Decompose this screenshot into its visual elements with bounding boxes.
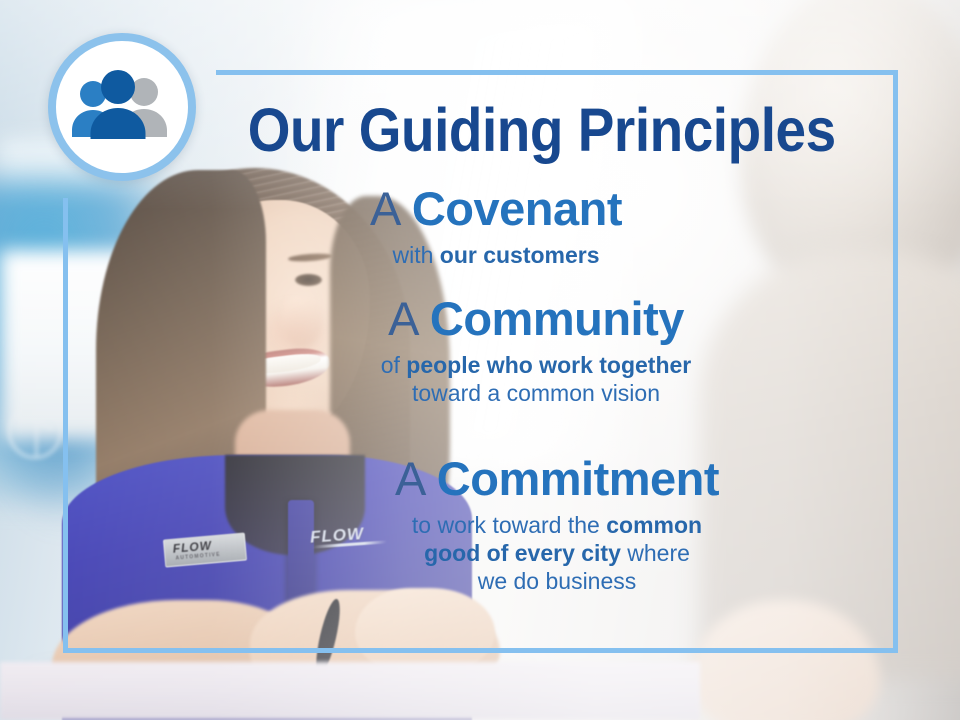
guiding-principles-banner: FLOW AUTOMOTIVE FLOW: [0, 0, 960, 720]
people-group-icon: [68, 69, 176, 145]
desk-surface: [0, 662, 700, 720]
frame-border-bottom: [63, 648, 898, 653]
people-group-badge: [48, 33, 196, 181]
employee-nose: [282, 296, 322, 348]
shirt-brand-logo: FLOW: [309, 522, 388, 547]
nametag-subtitle: AUTOMOTIVE: [175, 553, 221, 562]
frame-border-top: [216, 70, 898, 75]
frame-border-right: [893, 70, 898, 653]
employee-eye-right: [295, 274, 322, 286]
frame-border-left: [63, 198, 68, 653]
